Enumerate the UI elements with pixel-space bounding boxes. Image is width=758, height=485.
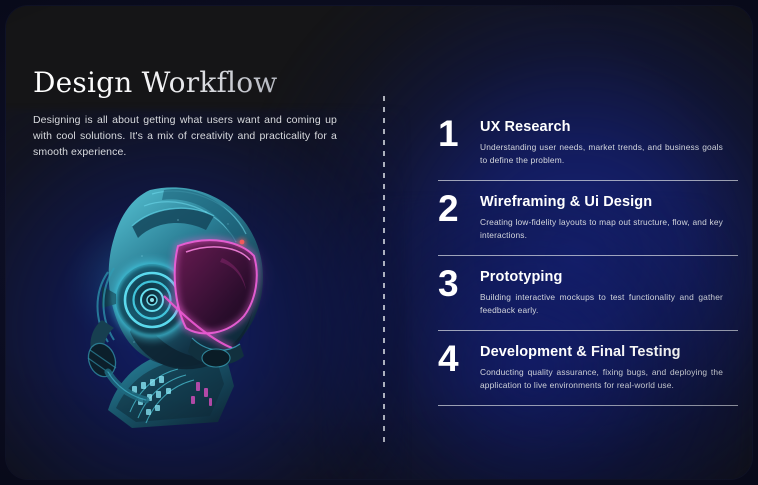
design-workflow-card: Design Workflow Designing is all about g… bbox=[6, 6, 752, 479]
step-body: Prototyping Building interactive mockups… bbox=[480, 269, 738, 316]
workflow-step: 3 Prototyping Building interactive mocku… bbox=[438, 269, 738, 331]
step-title: Prototyping bbox=[480, 270, 738, 286]
step-title: UX Research bbox=[480, 120, 738, 136]
step-body: Development & Final Testing Conducting q… bbox=[480, 344, 738, 391]
step-description: Creating low-fidelity layouts to map out… bbox=[480, 216, 723, 242]
workflow-step: 2 Wireframing & Ui Design Creating low-f… bbox=[438, 194, 738, 256]
step-number: 4 bbox=[438, 341, 480, 376]
step-description: Conducting quality assurance, fixing bug… bbox=[480, 366, 723, 392]
step-number: 2 bbox=[438, 191, 480, 226]
step-body: Wireframing & Ui Design Creating low-fid… bbox=[480, 194, 738, 241]
intro-paragraph: Designing is all about getting what user… bbox=[33, 112, 337, 161]
workflow-step: 1 UX Research Understanding user needs, … bbox=[438, 119, 738, 181]
step-description: Building interactive mockups to test fun… bbox=[480, 291, 723, 317]
step-description: Understanding user needs, market trends,… bbox=[480, 141, 723, 167]
step-title: Wireframing & Ui Design bbox=[480, 195, 738, 211]
workflow-step: 4 Development & Final Testing Conducting… bbox=[438, 344, 738, 406]
step-title: Development & Final Testing bbox=[480, 345, 738, 361]
page-title: Design Workflow bbox=[33, 68, 339, 99]
poster-page: Design Workflow Designing is all about g… bbox=[0, 0, 758, 485]
left-column: Design Workflow Designing is all about g… bbox=[33, 68, 339, 161]
workflow-steps-list: 1 UX Research Understanding user needs, … bbox=[438, 119, 738, 406]
step-number: 3 bbox=[438, 266, 480, 301]
cyber-helmet-illustration bbox=[46, 172, 296, 434]
step-body: UX Research Understanding user needs, ma… bbox=[480, 119, 738, 166]
vertical-dashed-divider bbox=[383, 96, 385, 444]
step-number: 1 bbox=[438, 116, 480, 151]
